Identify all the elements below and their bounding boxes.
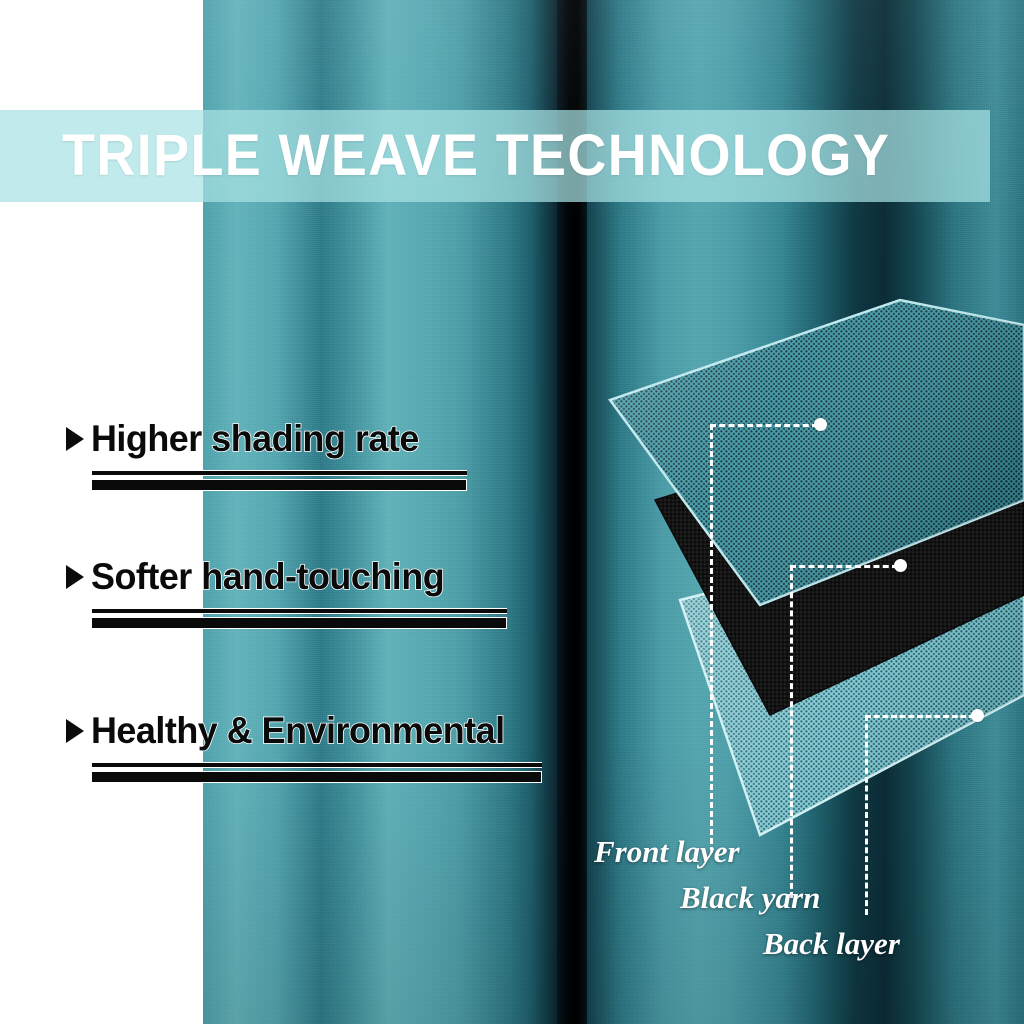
leader-line-back-horizontal — [865, 715, 975, 718]
underline-thick-rule — [92, 771, 542, 783]
feature-underline — [92, 608, 507, 629]
triple-weave-layer-diagram — [600, 295, 1024, 855]
leader-line-yarn-vertical — [790, 565, 793, 898]
product-infographic: TRIPLE WEAVE TECHNOLOGY Higher shading r… — [0, 0, 1024, 1024]
feature-underline — [92, 470, 467, 491]
page-title: TRIPLE WEAVE TECHNOLOGY — [62, 127, 890, 185]
feature-item-softer-hand-touching: Softer hand-touching — [66, 558, 507, 629]
underline-thick-rule — [92, 617, 507, 629]
caption-black-yarn: Black yarn — [680, 882, 820, 913]
title-banner: TRIPLE WEAVE TECHNOLOGY — [0, 110, 990, 202]
feature-item-higher-shading-rate: Higher shading rate — [66, 420, 467, 491]
leader-line-yarn-horizontal — [790, 565, 898, 568]
feature-label: Softer hand-touching — [91, 558, 444, 595]
underline-thin-rule — [92, 762, 542, 768]
caption-back-layer: Back layer — [763, 928, 900, 959]
feature-item-healthy-environmental: Healthy & Environmental — [66, 712, 542, 783]
leader-line-front-vertical — [710, 424, 713, 853]
underline-thin-rule — [92, 470, 467, 476]
leader-line-front-horizontal — [710, 424, 818, 427]
underline-thick-rule — [92, 479, 467, 491]
feature-label: Higher shading rate — [91, 420, 419, 457]
triangle-right-icon — [66, 565, 84, 589]
caption-front-layer: Front layer — [594, 836, 740, 867]
leader-line-back-vertical — [865, 715, 868, 915]
feature-label: Healthy & Environmental — [91, 712, 505, 749]
layer-stack-illustration — [600, 295, 1024, 855]
feature-underline — [92, 762, 542, 783]
triangle-right-icon — [66, 719, 84, 743]
triangle-right-icon — [66, 427, 84, 451]
underline-thin-rule — [92, 608, 507, 614]
